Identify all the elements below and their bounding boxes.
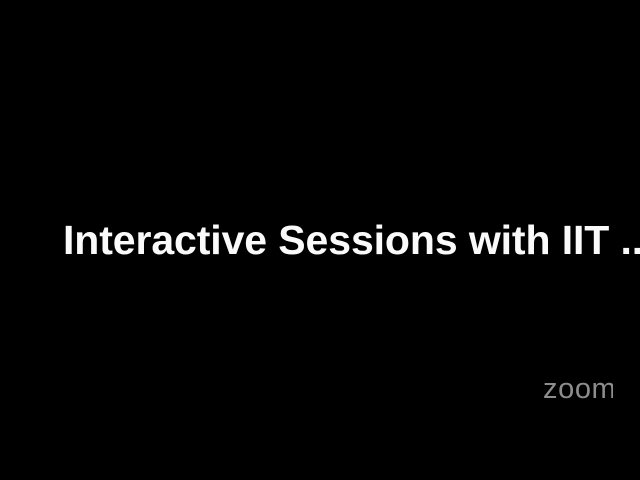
meeting-title-area: Interactive Sessions with IIT ... [0,0,640,480]
zoom-wordmark-icon: zoom [543,376,613,404]
zoom-wordmark-label: zoom [543,376,613,404]
zoom-logo: zoom [543,376,613,404]
meeting-title: Interactive Sessions with IIT ... [0,220,640,261]
zoom-meeting-screen: Interactive Sessions with IIT ... zoom [0,0,640,480]
